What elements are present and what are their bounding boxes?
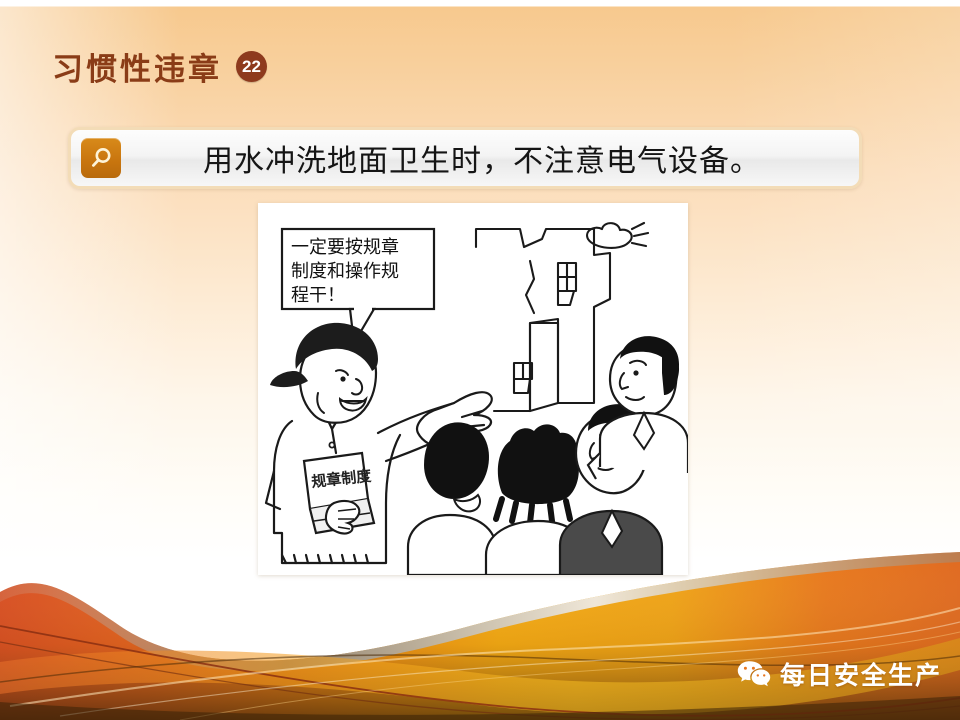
watermark-text: 每日安全生产 <box>780 656 942 692</box>
headline-text: 用水冲洗地面卫生时，不注意电气设备。 <box>121 136 859 180</box>
svg-text:程干！: 程干！ <box>291 285 345 306</box>
magnifier-icon <box>81 138 121 178</box>
svg-text:一定要按规章: 一定要按规章 <box>291 237 399 258</box>
illustration-frame: 一定要按规章 制度和操作规 程干！ <box>258 203 688 575</box>
wechat-icon <box>737 660 771 688</box>
slide-title-row: 习惯性违章 22 <box>52 44 267 89</box>
svg-text:制度和操作规: 制度和操作规 <box>291 261 399 282</box>
headline-banner: 用水冲洗地面卫生时，不注意电气设备。 <box>68 127 862 189</box>
title-number-badge: 22 <box>236 51 267 82</box>
slide-canvas: 习惯性违章 22 用水冲洗地面卫生时，不注意电气设备。 <box>0 0 960 720</box>
page-title: 习惯性违章 <box>52 44 222 89</box>
safety-training-cartoon: 一定要按规章 制度和操作规 程干！ <box>258 203 688 575</box>
watermark: 每日安全生产 <box>737 656 942 692</box>
